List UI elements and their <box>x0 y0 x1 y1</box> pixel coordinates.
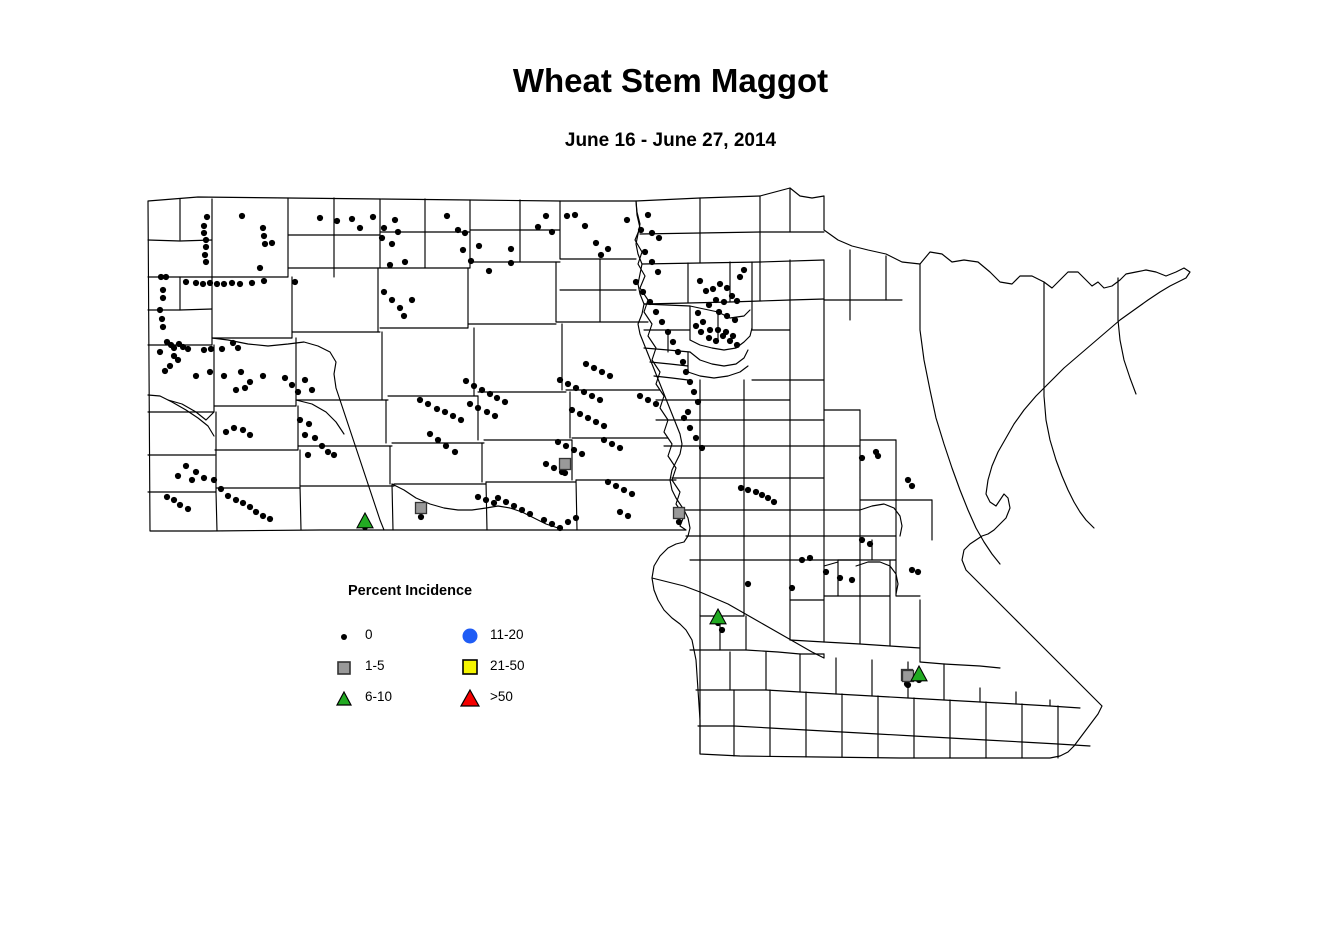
map-marker-dot <box>617 509 623 515</box>
map-marker-dot <box>579 451 585 457</box>
map-marker-dot <box>214 281 220 287</box>
map-marker-dot <box>734 298 740 304</box>
map-marker-dot <box>713 338 719 344</box>
map-marker-dot <box>859 455 865 461</box>
map-marker-dot <box>389 297 395 303</box>
map-marker-dot <box>201 223 207 229</box>
map-marker-dot <box>557 377 563 383</box>
map-marker-dot <box>508 260 514 266</box>
map-marker-dot <box>370 214 376 220</box>
map-marker-dot <box>401 313 407 319</box>
map-marker-dot <box>555 439 561 445</box>
county-boundaries <box>148 188 1190 758</box>
map-marker-dot <box>297 417 303 423</box>
map-marker-dot <box>695 399 701 405</box>
map-marker-dot <box>593 419 599 425</box>
map-page: Wheat Stem Maggot June 16 - June 27, 201… <box>0 0 1341 926</box>
map-marker-dot <box>467 401 473 407</box>
map-marker-dot <box>425 401 431 407</box>
map-marker-dot <box>203 244 209 250</box>
map-marker-dot <box>771 499 777 505</box>
map-marker-dot <box>312 435 318 441</box>
legend-item-11-20: 11-20 <box>460 623 580 654</box>
map-marker-dot <box>463 378 469 384</box>
map-marker-dot <box>231 425 237 431</box>
map-marker-dot <box>737 274 743 280</box>
map-marker-dot <box>185 346 191 352</box>
legend-item-6-10: 6-10 <box>335 685 455 716</box>
map-marker-dot <box>471 383 477 389</box>
map-marker-dot <box>306 421 312 427</box>
map-marker-dot <box>207 280 213 286</box>
map-marker-dot <box>573 515 579 521</box>
map-marker-dot <box>458 417 464 423</box>
map-marker-dot <box>183 463 189 469</box>
legend-label-6-10: 6-10 <box>365 689 392 704</box>
map-marker-dot <box>476 243 482 249</box>
map-marker-dot <box>867 541 873 547</box>
map-marker-dot <box>605 479 611 485</box>
map-marker-dot <box>157 307 163 313</box>
map-marker-dot <box>734 342 740 348</box>
map-marker-dot <box>418 514 424 520</box>
map-marker-triangle <box>357 513 373 528</box>
map-marker-dot <box>392 217 398 223</box>
map-marker-dot <box>162 368 168 374</box>
map-marker-dot <box>495 495 501 501</box>
map-marker-dot <box>511 503 517 509</box>
map-marker-dot <box>249 280 255 286</box>
map-marker-dot <box>565 381 571 387</box>
map-marker-dot <box>160 295 166 301</box>
map-marker-dot <box>593 240 599 246</box>
map-marker-dot <box>189 477 195 483</box>
map-marker-dot <box>571 447 577 453</box>
map-marker-dot <box>543 461 549 467</box>
map-marker-dot <box>693 323 699 329</box>
map-marker-dot <box>455 227 461 233</box>
square-marker-icon <box>335 654 361 680</box>
map-marker-dot <box>573 385 579 391</box>
map-marker-dot <box>238 369 244 375</box>
map-marker-dot <box>193 469 199 475</box>
map-marker-dot <box>670 339 676 345</box>
map-marker-dot <box>710 286 716 292</box>
map-marker-dot <box>240 427 246 433</box>
map-marker-dot <box>681 415 687 421</box>
map-marker-dot <box>564 213 570 219</box>
map-marker-dot <box>707 327 713 333</box>
map-marker-dot <box>837 575 843 581</box>
map-marker-dot <box>732 317 738 323</box>
map-marker-dot <box>583 361 589 367</box>
map-marker-dot <box>720 333 726 339</box>
map-marker-dot <box>645 212 651 218</box>
map-marker-dot <box>909 567 915 573</box>
map-marker-dot <box>233 497 239 503</box>
map-marker-dot <box>171 497 177 503</box>
map-marker-dot <box>483 497 489 503</box>
map-marker-dot <box>621 487 627 493</box>
map-marker-dot <box>435 437 441 443</box>
map-marker-dot <box>460 247 466 253</box>
map-marker-dot <box>527 511 533 517</box>
map-marker-dot <box>175 473 181 479</box>
map-marker-dot <box>262 241 268 247</box>
map-marker-dot <box>230 340 236 346</box>
map-marker-dot <box>292 279 298 285</box>
map-marker-dot <box>492 413 498 419</box>
map-marker-dot <box>717 281 723 287</box>
map-marker-dot <box>601 437 607 443</box>
map-marker-dot <box>563 443 569 449</box>
map-marker-dot <box>475 494 481 500</box>
map-marker-dot <box>557 525 563 531</box>
map-marker-dot <box>450 413 456 419</box>
map-marker-dot <box>599 369 605 375</box>
map-marker-dot <box>659 319 665 325</box>
map-marker-dot <box>211 477 217 483</box>
map-marker-dot <box>160 324 166 330</box>
map-marker-dot <box>543 213 549 219</box>
map-marker-dot <box>434 406 440 412</box>
legend: Percent Incidence 0 1-5 6-10 <box>335 583 575 708</box>
legend-label-21-50: 21-50 <box>490 658 525 673</box>
map-marker-dot <box>582 223 588 229</box>
map-marker-dot <box>697 278 703 284</box>
legend-column-right: 11-20 21-50 >50 <box>460 623 580 716</box>
map-marker-dot <box>235 345 241 351</box>
map-marker-dot <box>680 359 686 365</box>
map-marker-dot <box>444 213 450 219</box>
map-marker-dot <box>687 425 693 431</box>
map-marker-dot <box>302 432 308 438</box>
map-marker-dot <box>409 297 415 303</box>
map-marker-dot <box>379 235 385 241</box>
map-marker-dot <box>589 393 595 399</box>
map-marker-dot <box>724 285 730 291</box>
map-marker-dot <box>357 225 363 231</box>
map-marker-dot <box>713 297 719 303</box>
map-marker-dot <box>237 281 243 287</box>
map-marker-dot <box>223 429 229 435</box>
map-marker-dot <box>240 500 246 506</box>
map-marker-dot <box>724 313 730 319</box>
map-marker-dot <box>647 299 653 305</box>
map-marker-dot <box>219 346 225 352</box>
marker-group-zero <box>157 212 921 633</box>
map-marker-dot <box>691 389 697 395</box>
map-marker-dot <box>202 252 208 258</box>
map-marker-square <box>560 459 571 470</box>
map-marker-dot <box>698 329 704 335</box>
map-marker-dot <box>381 289 387 295</box>
map-marker-dot <box>581 389 587 395</box>
map-marker-dot <box>653 309 659 315</box>
map-marker-dot <box>225 493 231 499</box>
map-marker-dot <box>462 230 468 236</box>
map-marker-dot <box>442 409 448 415</box>
map-marker-dot <box>683 369 689 375</box>
map-marker-dot <box>915 569 921 575</box>
map-marker-dot <box>443 443 449 449</box>
map-marker-dot <box>859 537 865 543</box>
map-marker-dot <box>508 246 514 252</box>
map-marker-dot <box>503 499 509 505</box>
map-marker-dot <box>653 401 659 407</box>
map-marker-dot <box>334 218 340 224</box>
map-marker-dot <box>203 237 209 243</box>
map-marker-dot <box>479 387 485 393</box>
map-marker-dot <box>807 555 813 561</box>
map-marker-dot <box>629 491 635 497</box>
map-marker-dot <box>549 521 555 527</box>
map-marker-dot <box>741 267 747 273</box>
map-marker-dot <box>609 441 615 447</box>
map-marker-dot <box>624 217 630 223</box>
map-marker-dot <box>706 335 712 341</box>
map-marker-dot <box>349 216 355 222</box>
small-dot-icon <box>335 623 361 649</box>
map-marker-dot <box>319 443 325 449</box>
map-marker-dot <box>687 379 693 385</box>
map-marker-dot <box>325 449 331 455</box>
map-marker-dot <box>260 225 266 231</box>
triangle-marker-icon <box>335 685 361 711</box>
map-marker-dot <box>229 280 235 286</box>
map-marker-dot <box>572 212 578 218</box>
map-marker-dot <box>909 483 915 489</box>
map-marker-dot <box>491 500 497 506</box>
incidence-map <box>0 0 1341 926</box>
map-marker-dot <box>247 504 253 510</box>
map-marker-dot <box>163 274 169 280</box>
map-marker-dot <box>193 280 199 286</box>
map-marker-dot <box>309 387 315 393</box>
map-marker-dot <box>655 269 661 275</box>
map-marker-dot <box>475 405 481 411</box>
map-marker-dot <box>381 225 387 231</box>
map-marker-dot <box>849 577 855 583</box>
map-marker-dot <box>494 395 500 401</box>
map-marker-dot <box>269 240 275 246</box>
legend-label-1-5: 1-5 <box>365 658 385 673</box>
map-marker-dot <box>389 241 395 247</box>
map-marker-dot <box>759 492 765 498</box>
map-marker-dot <box>204 214 210 220</box>
map-marker-dot <box>387 262 393 268</box>
map-marker-dot <box>738 485 744 491</box>
map-marker-dot <box>468 258 474 264</box>
map-marker-dot <box>549 229 555 235</box>
map-marker-dot <box>519 507 525 513</box>
map-marker-dot <box>395 229 401 235</box>
map-marker-dot <box>317 215 323 221</box>
map-marker-dot <box>260 373 266 379</box>
map-marker-dot <box>200 281 206 287</box>
map-marker-dot <box>719 627 725 633</box>
map-marker-dot <box>257 265 263 271</box>
map-marker-dot <box>875 453 881 459</box>
legend-label-0: 0 <box>365 627 373 642</box>
map-marker-dot <box>427 431 433 437</box>
map-marker-dot <box>201 347 207 353</box>
map-marker-dot <box>417 397 423 403</box>
legend-item-1-5: 1-5 <box>335 654 455 685</box>
map-marker-dot <box>486 268 492 274</box>
map-marker-dot <box>193 373 199 379</box>
map-marker-dot <box>452 449 458 455</box>
map-marker-dot <box>633 279 639 285</box>
map-marker-dot <box>177 502 183 508</box>
map-marker-dot <box>218 486 224 492</box>
map-marker-square <box>674 508 685 519</box>
map-marker-dot <box>183 279 189 285</box>
square-marker-icon <box>460 654 486 680</box>
map-marker-dot <box>185 506 191 512</box>
map-marker-dot <box>699 445 705 451</box>
map-marker-dot <box>221 373 227 379</box>
map-marker-dot <box>745 581 751 587</box>
map-marker-dot <box>261 233 267 239</box>
map-marker-dot <box>675 349 681 355</box>
map-marker-dot <box>729 293 735 299</box>
map-marker-dot <box>765 495 771 501</box>
map-marker-dot <box>289 382 295 388</box>
map-marker-dot <box>613 483 619 489</box>
map-marker-dot <box>706 302 712 308</box>
map-marker-dot <box>295 389 301 395</box>
map-marker-dot <box>551 465 557 471</box>
map-marker-dot <box>565 519 571 525</box>
map-marker-dot <box>905 682 911 688</box>
map-marker-dot <box>645 397 651 403</box>
map-marker-dot <box>484 409 490 415</box>
map-marker-dot <box>642 249 648 255</box>
map-marker-dot <box>267 516 273 522</box>
map-marker-square <box>416 503 427 514</box>
map-marker-dot <box>703 288 709 294</box>
map-marker-dot <box>201 475 207 481</box>
legend-label-11-20: 11-20 <box>490 627 524 642</box>
legend-item-0: 0 <box>335 623 455 654</box>
map-marker-dot <box>282 375 288 381</box>
map-marker-dot <box>625 513 631 519</box>
map-marker-dot <box>685 409 691 415</box>
map-marker-dot <box>247 379 253 385</box>
map-marker-dot <box>175 357 181 363</box>
map-marker-dot <box>203 259 209 265</box>
map-marker-dot <box>649 259 655 265</box>
map-marker-dot <box>541 517 547 523</box>
map-marker-dot <box>535 224 541 230</box>
legend-label-gt50: >50 <box>490 689 513 704</box>
map-marker-dot <box>607 373 613 379</box>
map-marker-dot <box>562 470 568 476</box>
legend-column-left: 0 1-5 6-10 <box>335 623 455 716</box>
map-marker-dot <box>331 452 337 458</box>
map-marker-dot <box>261 278 267 284</box>
map-marker-dot <box>591 365 597 371</box>
circle-marker-icon <box>460 623 486 649</box>
map-marker-dot <box>637 393 643 399</box>
map-marker-dot <box>598 252 604 258</box>
map-marker-dot <box>157 349 163 355</box>
map-marker-dot <box>239 213 245 219</box>
map-marker-dot <box>160 287 166 293</box>
map-marker-dot <box>253 509 259 515</box>
map-marker-dot <box>577 411 583 417</box>
map-marker-dot <box>302 377 308 383</box>
map-marker-dot <box>638 227 644 233</box>
legend-title: Percent Incidence <box>348 583 472 599</box>
map-marker-dot <box>605 246 611 252</box>
map-marker-dot <box>745 487 751 493</box>
map-marker-dot <box>305 452 311 458</box>
map-marker-dot <box>233 387 239 393</box>
map-marker-dot <box>617 445 623 451</box>
map-marker-dot <box>716 309 722 315</box>
map-marker-dot <box>502 399 508 405</box>
map-marker-dot <box>207 369 213 375</box>
map-marker-dot <box>260 513 266 519</box>
map-marker-dot <box>753 489 759 495</box>
map-marker-dot <box>242 385 248 391</box>
map-marker-dot <box>247 432 253 438</box>
map-marker-dot <box>171 345 177 351</box>
map-marker-dot <box>397 305 403 311</box>
map-marker-dot <box>715 327 721 333</box>
map-marker-dot <box>799 557 805 563</box>
map-marker-dot <box>700 319 706 325</box>
map-marker-dot <box>569 407 575 413</box>
map-marker-dot <box>487 391 493 397</box>
map-marker-dot <box>159 316 165 322</box>
map-marker-dot <box>665 329 671 335</box>
map-marker-dot <box>905 477 911 483</box>
map-marker-dot <box>585 415 591 421</box>
map-marker-dot <box>823 569 829 575</box>
map-marker-dot <box>597 397 603 403</box>
map-marker-dot <box>789 585 795 591</box>
map-marker-dot <box>221 281 227 287</box>
map-marker-dot <box>201 230 207 236</box>
map-marker-dot <box>693 435 699 441</box>
map-marker-dot <box>656 235 662 241</box>
legend-item-21-50: 21-50 <box>460 654 580 685</box>
map-marker-dot <box>676 519 682 525</box>
map-marker-dot <box>164 494 170 500</box>
map-marker-dot <box>167 363 173 369</box>
legend-item-gt50: >50 <box>460 685 580 716</box>
map-marker-dot <box>649 230 655 236</box>
map-marker-dot <box>695 310 701 316</box>
map-marker-dot <box>640 289 646 295</box>
map-marker-dot <box>721 299 727 305</box>
map-marker-dot <box>601 423 607 429</box>
map-marker-dot <box>727 338 733 344</box>
map-marker-dot <box>208 346 214 352</box>
triangle-marker-icon <box>460 685 486 711</box>
map-marker-dot <box>402 259 408 265</box>
